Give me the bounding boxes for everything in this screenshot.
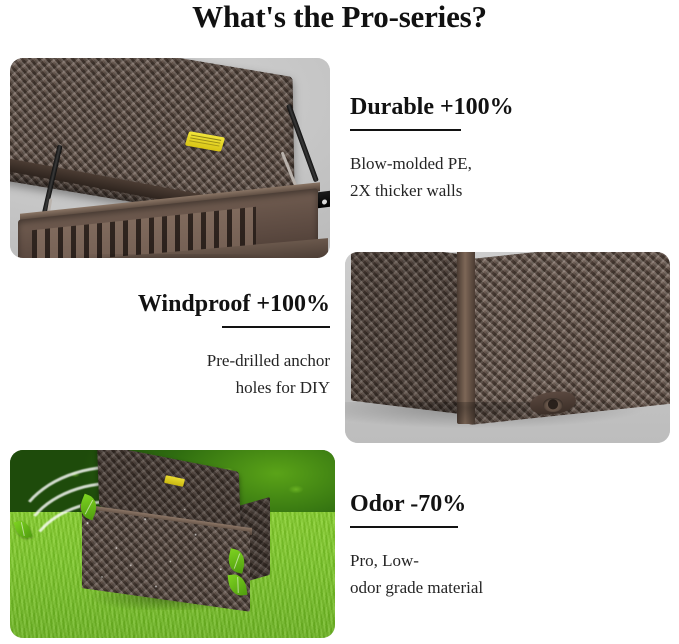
feature-headline-odor: Odor -70%	[350, 489, 610, 519]
feature-body-line-2: holes for DIY	[80, 374, 330, 401]
feature-headline-durable: Durable +100%	[350, 92, 600, 122]
feature-headline-windproof: Windproof +100%	[80, 289, 330, 319]
anchor-hole-icon	[543, 398, 563, 412]
page-title: What's the Pro-series?	[0, 0, 679, 36]
feature-body-line-1: Pro, Low-	[350, 547, 610, 574]
feature-body-durable: Blow-molded PE, 2X thicker walls	[350, 150, 600, 204]
feature-rule-windproof	[222, 326, 330, 328]
feature-rule-odor	[350, 526, 458, 528]
feature-block-windproof: Windproof +100% Pre-drilled anchor holes…	[80, 289, 330, 401]
feature-block-odor: Odor -70% Pro, Low- odor grade material	[350, 489, 610, 601]
feature-body-line-1: Blow-molded PE,	[350, 150, 600, 177]
corner-post	[457, 252, 475, 424]
feature-body-windproof: Pre-drilled anchor holes for DIY	[80, 347, 330, 401]
feature-block-durable: Durable +100% Blow-molded PE, 2X thicker…	[350, 92, 600, 204]
feature-rule-durable	[350, 129, 461, 131]
feature-image-windproof	[345, 252, 670, 443]
drop-shadow	[10, 254, 330, 258]
feature-image-odor	[10, 450, 335, 638]
wicker-left-face	[351, 252, 471, 415]
feature-body-odor: Pro, Low- odor grade material	[350, 547, 610, 601]
feature-body-line-2: 2X thicker walls	[350, 177, 600, 204]
drop-shadow	[345, 402, 670, 430]
feature-image-durable	[10, 58, 330, 258]
feature-body-line-1: Pre-drilled anchor	[80, 347, 330, 374]
feature-body-line-2: odor grade material	[350, 574, 610, 601]
